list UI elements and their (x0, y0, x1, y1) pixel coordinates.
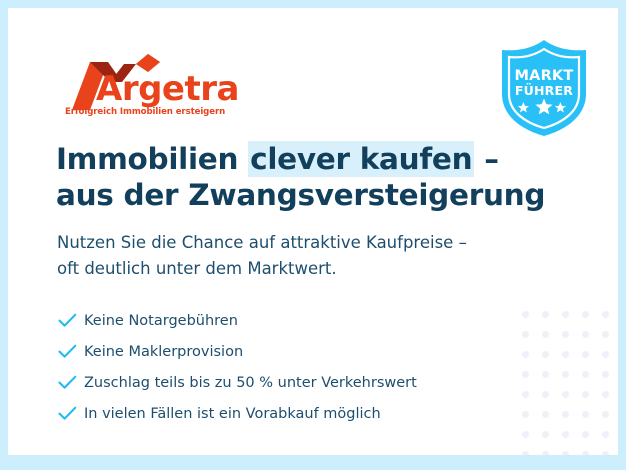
check-icon (58, 313, 84, 328)
logo-wordmark: Argetra (96, 72, 239, 106)
decoration-dot (562, 431, 569, 438)
market-leader-badge: MARKT FÜHRER (496, 38, 592, 138)
decoration-dot (602, 331, 609, 338)
argetra-logo[interactable]: Argetra Erfolgreich Immobilien ersteiger… (64, 50, 264, 122)
check-icon (58, 344, 84, 359)
decoration-dot (542, 371, 549, 378)
list-item: In vielen Fällen ist ein Vorabkauf mögli… (58, 398, 508, 429)
badge-stars (496, 98, 592, 119)
list-item-label: Keine Notargebühren (84, 313, 238, 329)
decoration-dot (542, 451, 549, 455)
decoration-dot (562, 351, 569, 358)
decoration-dot (542, 411, 549, 418)
decoration-dot (582, 411, 589, 418)
decoration-dot (522, 451, 529, 455)
decoration-dot (602, 311, 609, 318)
decoration-dot (582, 451, 589, 455)
decoration-dot (602, 431, 609, 438)
headline-line-2: aus der Zwangsversteigerung (56, 178, 545, 212)
decoration-dot (602, 411, 609, 418)
decoration-dot (522, 311, 529, 318)
subheading-line-2: oft deutlich unter dem Marktwert. (57, 259, 337, 278)
list-item-label: Zuschlag teils bis zu 50 % unter Verkehr… (84, 375, 417, 391)
list-item: Keine Maklerprovision (58, 336, 508, 367)
logo-tagline: Erfolgreich Immobilien ersteigern (65, 107, 225, 117)
three-stars-icon (518, 98, 570, 114)
subheading: Nutzen Sie die Chance auf attraktive Kau… (57, 230, 577, 282)
decoration-dot (542, 351, 549, 358)
decoration-dot (602, 351, 609, 358)
headline-highlight: clever kaufen (248, 141, 474, 177)
decoration-dot (602, 391, 609, 398)
list-item-label: Keine Maklerprovision (84, 344, 243, 360)
subheading-line-1: Nutzen Sie die Chance auf attraktive Kau… (57, 233, 467, 252)
decoration-dot (582, 351, 589, 358)
list-item-label: In vielen Fällen ist ein Vorabkauf mögli… (84, 406, 381, 422)
check-icon (58, 375, 84, 390)
decoration-dot (562, 331, 569, 338)
decoration-dot (542, 331, 549, 338)
page-title: Immobilien clever kaufen – aus der Zwang… (56, 141, 566, 213)
decoration-dot (542, 311, 549, 318)
decoration-dot (562, 311, 569, 318)
decoration-dot (542, 391, 549, 398)
badge-line-2: FÜHRER (496, 83, 592, 98)
list-item: Keine Notargebühren (58, 305, 508, 336)
decoration-dot (522, 391, 529, 398)
decoration-dot (522, 411, 529, 418)
dot-pattern-decoration (522, 311, 618, 455)
headline-part-1: Immobilien (56, 142, 248, 176)
headline-part-2: – (474, 142, 498, 176)
check-icon (58, 406, 84, 421)
decoration-dot (582, 331, 589, 338)
decoration-dot (582, 431, 589, 438)
decoration-dot (602, 451, 609, 455)
list-item: Zuschlag teils bis zu 50 % unter Verkehr… (58, 367, 508, 398)
decoration-dot (562, 371, 569, 378)
decoration-dot (582, 391, 589, 398)
benefit-list: Keine Notargebühren Keine Maklerprovisio… (58, 305, 508, 429)
decoration-dot (522, 371, 529, 378)
decoration-dot (562, 451, 569, 455)
decoration-dot (582, 371, 589, 378)
decoration-dot (522, 351, 529, 358)
decoration-dot (522, 431, 529, 438)
decoration-dot (602, 371, 609, 378)
badge-line-1: MARKT (496, 68, 592, 84)
decoration-dot (522, 331, 529, 338)
decoration-dot (562, 391, 569, 398)
decoration-dot (582, 311, 589, 318)
decoration-dot (562, 411, 569, 418)
decoration-dot (542, 431, 549, 438)
promo-banner: Argetra Erfolgreich Immobilien ersteiger… (0, 0, 626, 470)
banner-card: Argetra Erfolgreich Immobilien ersteiger… (8, 8, 618, 455)
